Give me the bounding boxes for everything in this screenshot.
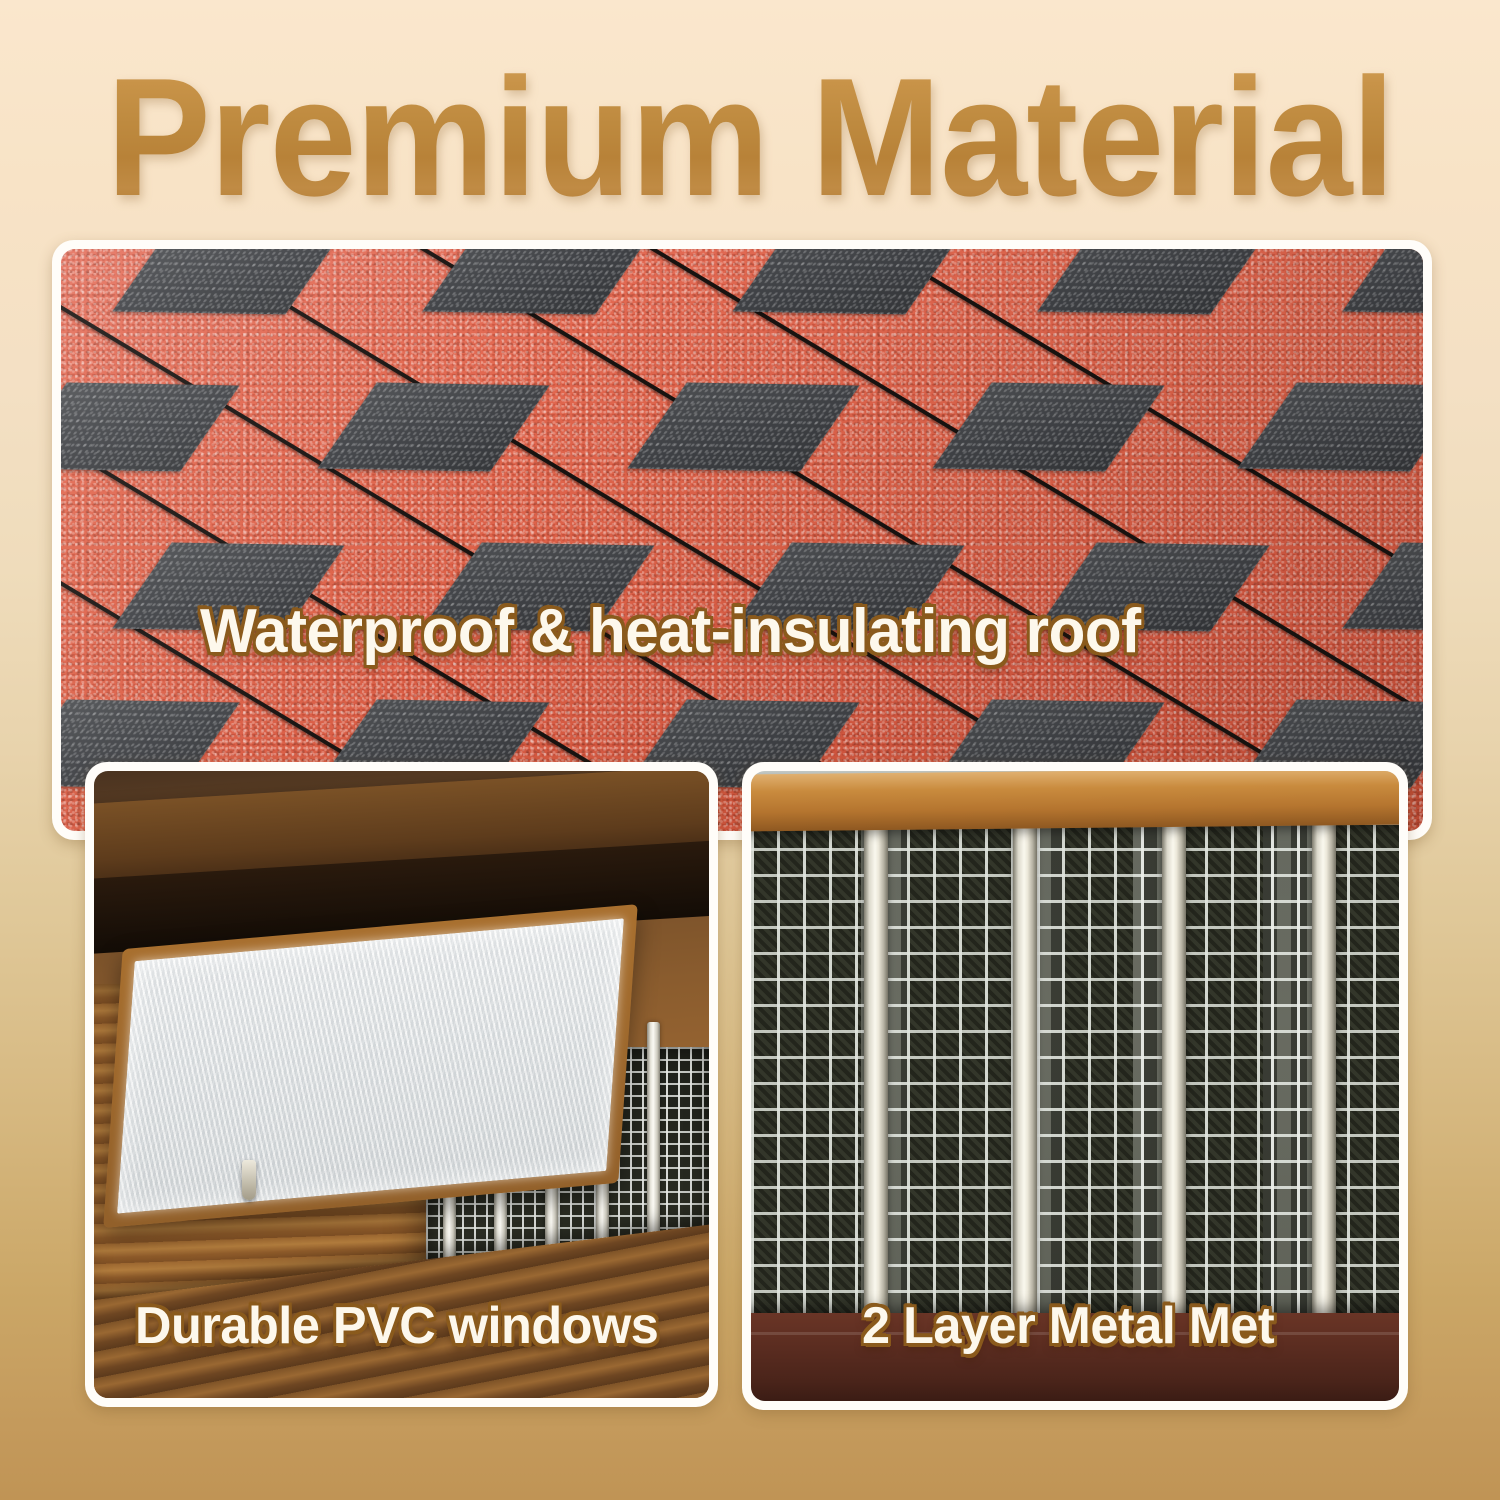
promo-graphic: Premium Material Waterproof & heat-insul… (0, 0, 1500, 1500)
caption-metal-mesh: 2 Layer Metal Met (862, 1296, 1274, 1356)
feature-panel-roof (52, 240, 1432, 840)
page-title: Premium Material (106, 53, 1394, 221)
caption-roof: Waterproof & heat-insulating roof (200, 596, 1141, 667)
second-layer-mesh (1179, 815, 1263, 1319)
caption-pvc-window: Durable PVC windows (135, 1296, 658, 1356)
wood-top-rail (751, 771, 1399, 831)
roof-lighting-overlay (61, 249, 1423, 831)
metal-bar (1013, 815, 1037, 1325)
page-title-container: Premium Material (0, 52, 1500, 222)
metal-bar (1312, 815, 1336, 1325)
window-latch (242, 1160, 256, 1200)
metal-bar (864, 815, 888, 1325)
pvc-window-frame (104, 904, 638, 1228)
second-layer-mesh (1062, 815, 1133, 1319)
metal-bar (1162, 815, 1186, 1325)
corrugated-pvc-sheet (118, 918, 624, 1213)
second-layer-mesh (907, 815, 1017, 1319)
roof-image (61, 249, 1423, 831)
second-layer-mesh (751, 815, 861, 1319)
